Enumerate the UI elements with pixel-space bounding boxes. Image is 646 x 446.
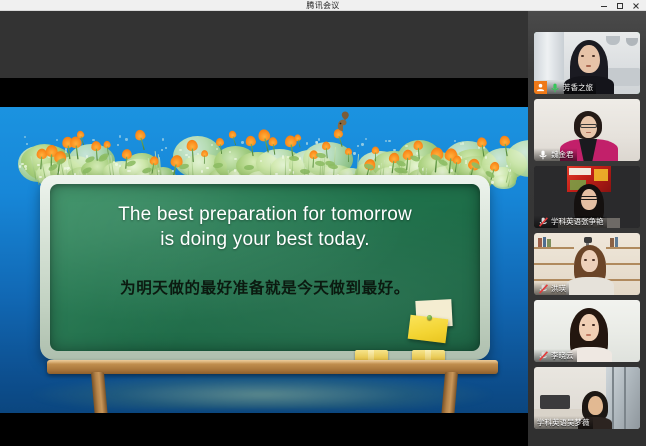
host-icon [534, 81, 547, 94]
window-title: 腾讯会议 [306, 0, 339, 11]
participant-tile[interactable]: 魏金君 [534, 99, 640, 161]
quote-translation: 为明天做的最好准备就是今天做到最好。 [72, 278, 458, 300]
participant-name: 芳香之旅 [563, 81, 593, 94]
letterbox-bottom [0, 413, 528, 446]
participant-namebar: 芳香之旅 [534, 81, 596, 94]
squirrel-icon [333, 111, 350, 132]
mic-unmuted-icon[interactable] [537, 148, 549, 161]
participant-namebar: 李晓云 [534, 349, 577, 362]
participant-name: 李晓云 [551, 349, 574, 362]
letterbox-top [0, 78, 528, 107]
participant-namebar: 魏金君 [534, 148, 577, 161]
participant-tile[interactable]: 学科英语张争艳 [534, 166, 640, 228]
close-button[interactable] [628, 0, 644, 11]
mic-muted-icon[interactable] [537, 215, 549, 228]
blackboard-text-block: The best preparation for tomorrow is doi… [50, 202, 480, 300]
easel-ledge [47, 360, 498, 374]
presentation-slide: The best preparation for tomorrow is doi… [0, 107, 528, 413]
participant-name: 学科英语张争艳 [551, 215, 604, 228]
mic-unmuted-icon[interactable] [549, 81, 561, 94]
mic-muted-icon[interactable] [537, 349, 549, 362]
window-titlebar[interactable]: 腾讯会议 [0, 0, 646, 11]
pin-icon [427, 315, 432, 320]
participant-name: 学科英语吴梦薇 [537, 416, 590, 429]
stage-top-band [0, 11, 528, 78]
participant-tile[interactable]: 洪瑛 [534, 233, 640, 295]
participant-filmstrip[interactable]: 芳香之旅 魏金君 [528, 11, 646, 446]
participant-tile[interactable]: 学科英语吴梦薇 [534, 367, 640, 429]
mic-muted-icon[interactable] [537, 282, 549, 295]
participant-tile[interactable]: 李晓云 [534, 300, 640, 362]
quote-line-1: The best preparation for tomorrow [72, 202, 458, 227]
participant-name: 洪瑛 [551, 282, 566, 295]
quote-line-2: is doing your best today. [72, 227, 458, 252]
minimize-button[interactable] [596, 0, 612, 11]
maximize-button[interactable] [612, 0, 628, 11]
meeting-window-body: The best preparation for tomorrow is doi… [0, 11, 646, 446]
blackboard-surface: The best preparation for tomorrow is doi… [50, 184, 480, 351]
participant-namebar: 学科英语吴梦薇 [534, 416, 593, 429]
participant-namebar: 洪瑛 [534, 282, 569, 295]
shared-screen-stage[interactable]: The best preparation for tomorrow is doi… [0, 11, 528, 446]
window-controls [596, 0, 644, 11]
participant-tile[interactable]: 芳香之旅 [534, 32, 640, 94]
participant-name: 魏金君 [551, 148, 574, 161]
participant-namebar: 学科英语张争艳 [534, 215, 607, 228]
blackboard: The best preparation for tomorrow is doi… [40, 175, 490, 360]
